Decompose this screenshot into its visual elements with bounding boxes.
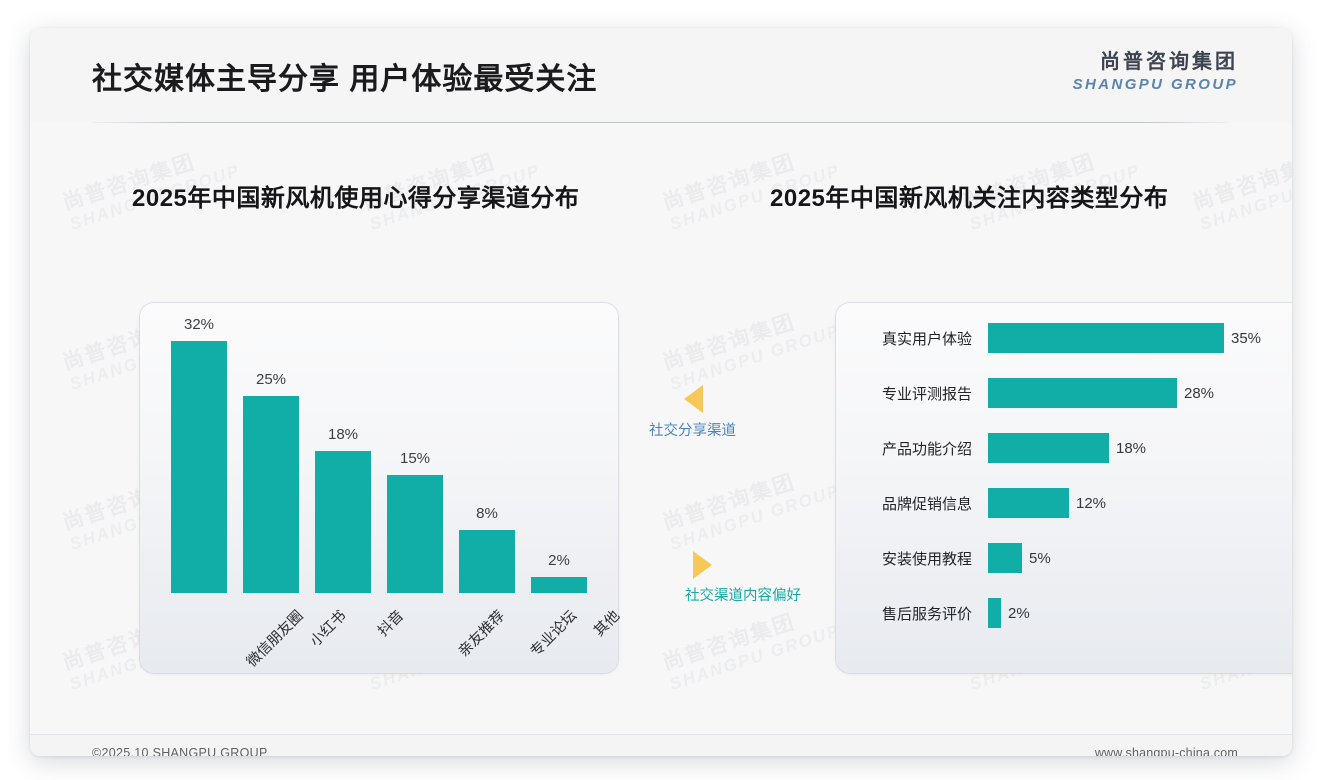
column-chart-plot: 32%微信朋友圈25%小红书18%抖音15%亲友推荐8%专业论坛2%其他 bbox=[162, 317, 596, 593]
callout-content-preference: 社交渠道内容偏好 bbox=[685, 551, 801, 605]
watermark: 尚普咨询集团SHANGPU GROUP bbox=[660, 598, 843, 695]
column-value-label: 25% bbox=[242, 371, 300, 388]
column-value-label: 8% bbox=[458, 505, 516, 522]
right-chart-title: 2025年中国新风机关注内容类型分布 bbox=[770, 178, 1168, 213]
bar-fill bbox=[988, 433, 1109, 463]
column-bar-group: 18%抖音 bbox=[314, 451, 372, 593]
column-category-label: 抖音 bbox=[372, 605, 407, 640]
column-value-label: 2% bbox=[530, 552, 588, 569]
column-bar bbox=[315, 451, 371, 593]
bar-category-label: 产品功能介绍 bbox=[836, 438, 988, 459]
slide-card: 社交媒体主导分享 用户体验最受关注 尚普咨询集团 SHANGPU GROUP 2… bbox=[30, 28, 1292, 756]
bar-category-label: 安装使用教程 bbox=[836, 548, 988, 569]
slide-body: 2025年中国新风机使用心得分享渠道分布 32%微信朋友圈25%小红书18%抖音… bbox=[30, 123, 1292, 721]
column-value-label: 15% bbox=[386, 450, 444, 467]
bar-fill bbox=[988, 378, 1177, 408]
column-bar-group: 15%亲友推荐 bbox=[386, 475, 444, 593]
watermark: 尚普咨询集团SHANGPU GROUP bbox=[1190, 138, 1292, 235]
column-bar-group: 2%其他 bbox=[530, 577, 588, 593]
column-category-label: 亲友推荐 bbox=[453, 605, 509, 661]
bar-value-label: 18% bbox=[1116, 440, 1146, 457]
watermark-chinese-text: 尚普咨询集团 bbox=[660, 598, 837, 676]
bar-value-label: 28% bbox=[1184, 385, 1214, 402]
watermark-chinese-text: 尚普咨询集团 bbox=[1190, 138, 1292, 216]
column-bar bbox=[459, 530, 515, 593]
bar-value-label: 35% bbox=[1231, 330, 1261, 347]
watermark-english-text: SHANGPU GROUP bbox=[667, 481, 843, 555]
bar-fill bbox=[988, 323, 1224, 353]
watermark-chinese-text: 尚普咨询集团 bbox=[660, 458, 837, 536]
logo-chinese-text: 尚普咨询集团 bbox=[1073, 50, 1238, 75]
triangle-right-icon bbox=[693, 551, 712, 579]
left-chart-title: 2025年中国新风机使用心得分享渠道分布 bbox=[132, 178, 579, 213]
page-title: 社交媒体主导分享 用户体验最受关注 bbox=[92, 54, 597, 98]
bar-fill bbox=[988, 543, 1022, 573]
bar-category-label: 售后服务评价 bbox=[836, 603, 988, 624]
column-category-label: 小红书 bbox=[305, 605, 351, 651]
left-chart-panel: 32%微信朋友圈25%小红书18%抖音15%亲友推荐8%专业论坛2%其他 bbox=[140, 303, 618, 673]
right-chart-panel: 真实用户体验35%专业评测报告28%产品功能介绍18%品牌促销信息12%安装使用… bbox=[836, 303, 1292, 673]
bar-category-label: 专业评测报告 bbox=[836, 383, 988, 404]
bar-row: 品牌促销信息12% bbox=[836, 486, 1292, 520]
footer-copyright: ©2025.10 SHANGPU GROUP bbox=[92, 746, 268, 756]
column-value-label: 18% bbox=[314, 426, 372, 443]
column-category-label: 专业论坛 bbox=[525, 605, 581, 661]
watermark-english-text: SHANGPU GROUP bbox=[667, 621, 843, 695]
bar-fill bbox=[988, 488, 1069, 518]
watermark: 尚普咨询集团SHANGPU GROUP bbox=[660, 458, 843, 555]
bar-category-label: 品牌促销信息 bbox=[836, 493, 988, 514]
slide-footer: ©2025.10 SHANGPU GROUP www.shangpu-china… bbox=[30, 735, 1292, 756]
bar-row: 安装使用教程5% bbox=[836, 541, 1292, 575]
column-category-label: 其他 bbox=[588, 605, 623, 640]
bar-fill bbox=[988, 598, 1001, 628]
bar-chart-plot: 真实用户体验35%专业评测报告28%产品功能介绍18%品牌促销信息12%安装使用… bbox=[836, 321, 1292, 661]
logo-english-text: SHANGPU GROUP bbox=[1073, 75, 1238, 95]
bar-value-label: 5% bbox=[1029, 550, 1051, 567]
bar-row: 产品功能介绍18% bbox=[836, 431, 1292, 465]
bar-value-label: 2% bbox=[1008, 605, 1030, 622]
footer-website: www.shangpu-china.com bbox=[1095, 746, 1238, 756]
column-bar-group: 8%专业论坛 bbox=[458, 530, 516, 593]
callout-bottom-label: 社交渠道内容偏好 bbox=[685, 584, 801, 605]
column-bar-group: 25%小红书 bbox=[242, 396, 300, 593]
column-bar bbox=[171, 341, 227, 593]
callout-top-label: 社交分享渠道 bbox=[649, 419, 736, 440]
watermark-english-text: SHANGPU GROUP bbox=[1197, 161, 1292, 235]
column-value-label: 32% bbox=[170, 316, 228, 333]
column-bar bbox=[243, 396, 299, 593]
callout-social-share-channel: 社交分享渠道 bbox=[649, 385, 736, 440]
bar-row: 专业评测报告28% bbox=[836, 376, 1292, 410]
bar-value-label: 12% bbox=[1076, 495, 1106, 512]
column-bar-group: 32%微信朋友圈 bbox=[170, 341, 228, 593]
watermark: 尚普咨询集团SHANGPU GROUP bbox=[660, 298, 843, 395]
column-category-label: 微信朋友圈 bbox=[241, 605, 307, 671]
bar-row: 真实用户体验35% bbox=[836, 321, 1292, 355]
bar-category-label: 真实用户体验 bbox=[836, 328, 988, 349]
triangle-left-icon bbox=[684, 385, 703, 413]
watermark-chinese-text: 尚普咨询集团 bbox=[660, 298, 837, 376]
slide-header: 社交媒体主导分享 用户体验最受关注 尚普咨询集团 SHANGPU GROUP bbox=[30, 28, 1292, 122]
column-bar bbox=[531, 577, 587, 593]
bar-row: 售后服务评价2% bbox=[836, 596, 1292, 630]
column-bar bbox=[387, 475, 443, 593]
brand-logo: 尚普咨询集团 SHANGPU GROUP bbox=[1073, 50, 1238, 95]
